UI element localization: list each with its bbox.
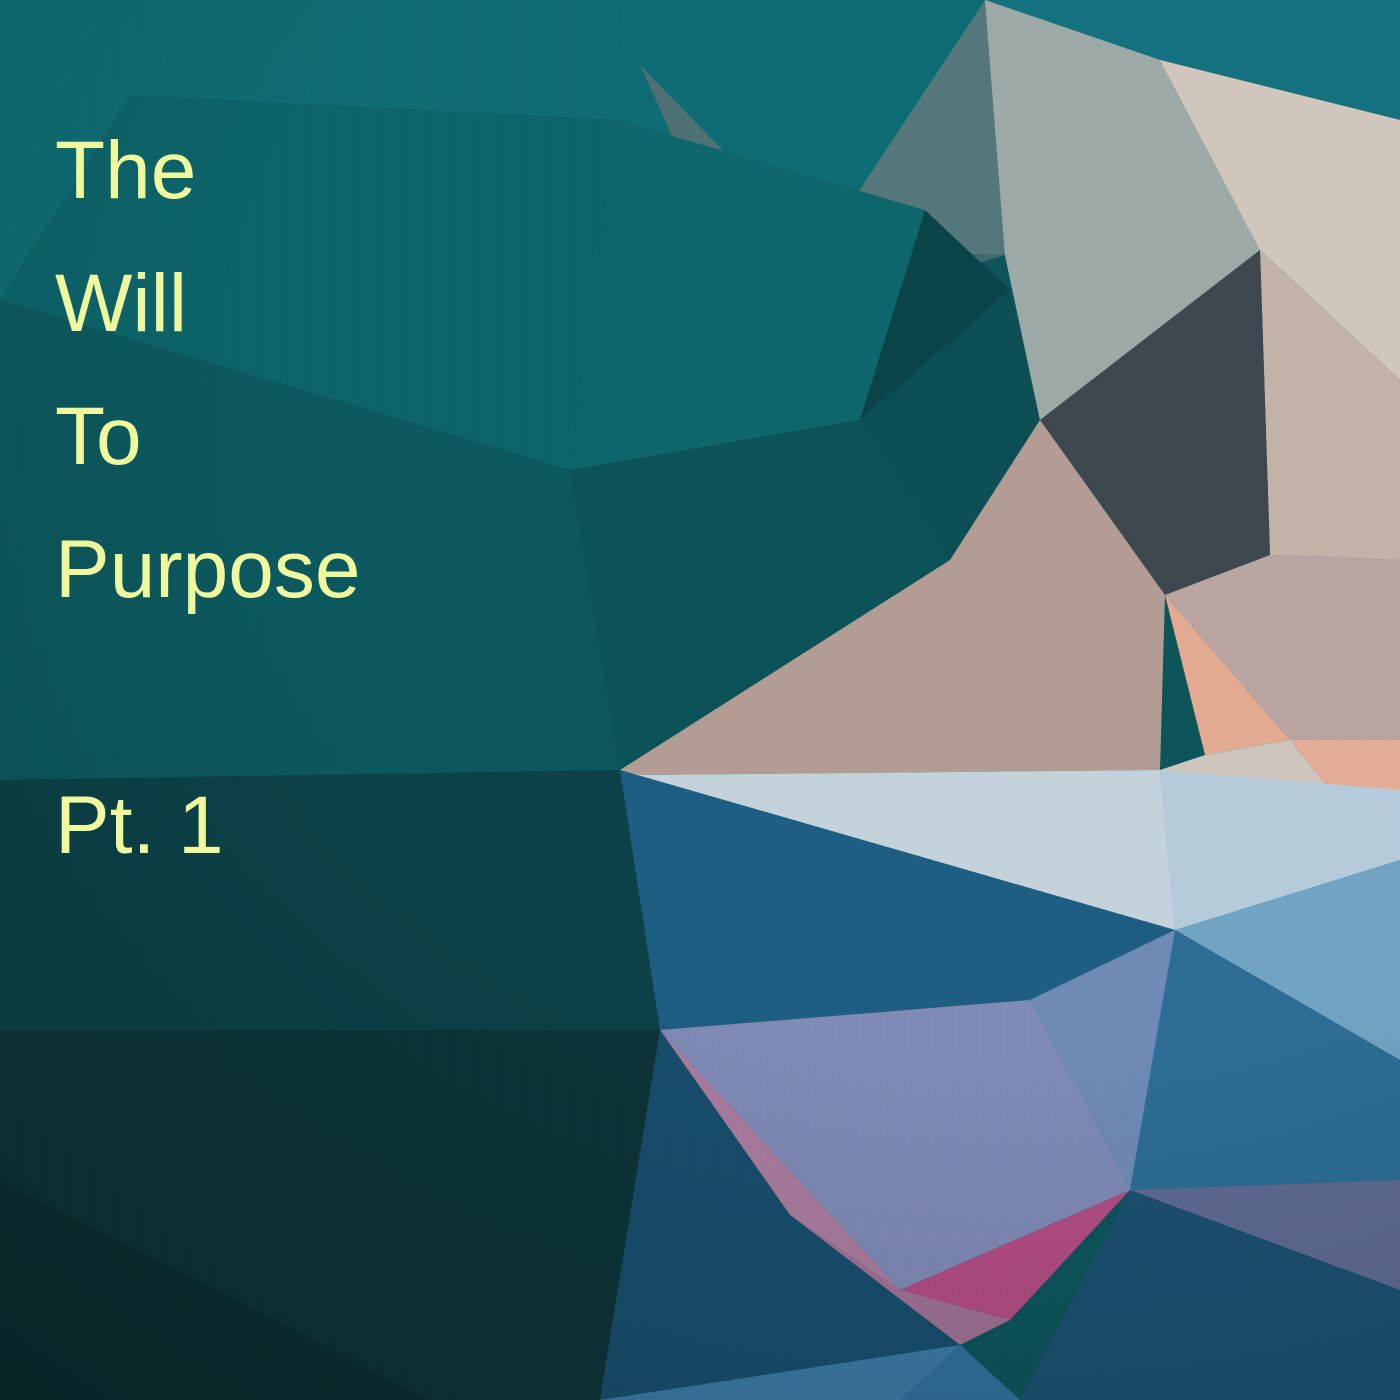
title-line-1: The — [55, 104, 675, 237]
title-line-3: To — [55, 370, 675, 503]
title-line-4: Purpose — [55, 503, 675, 636]
album-title: The Will To Purpose — [55, 104, 675, 636]
part-label: Pt. 1 — [55, 770, 224, 882]
album-cover: The Will To Purpose Pt. 1 — [0, 0, 1400, 1400]
part-label-block: Pt. 1 — [55, 770, 224, 882]
title-line-2: Will — [55, 237, 675, 370]
